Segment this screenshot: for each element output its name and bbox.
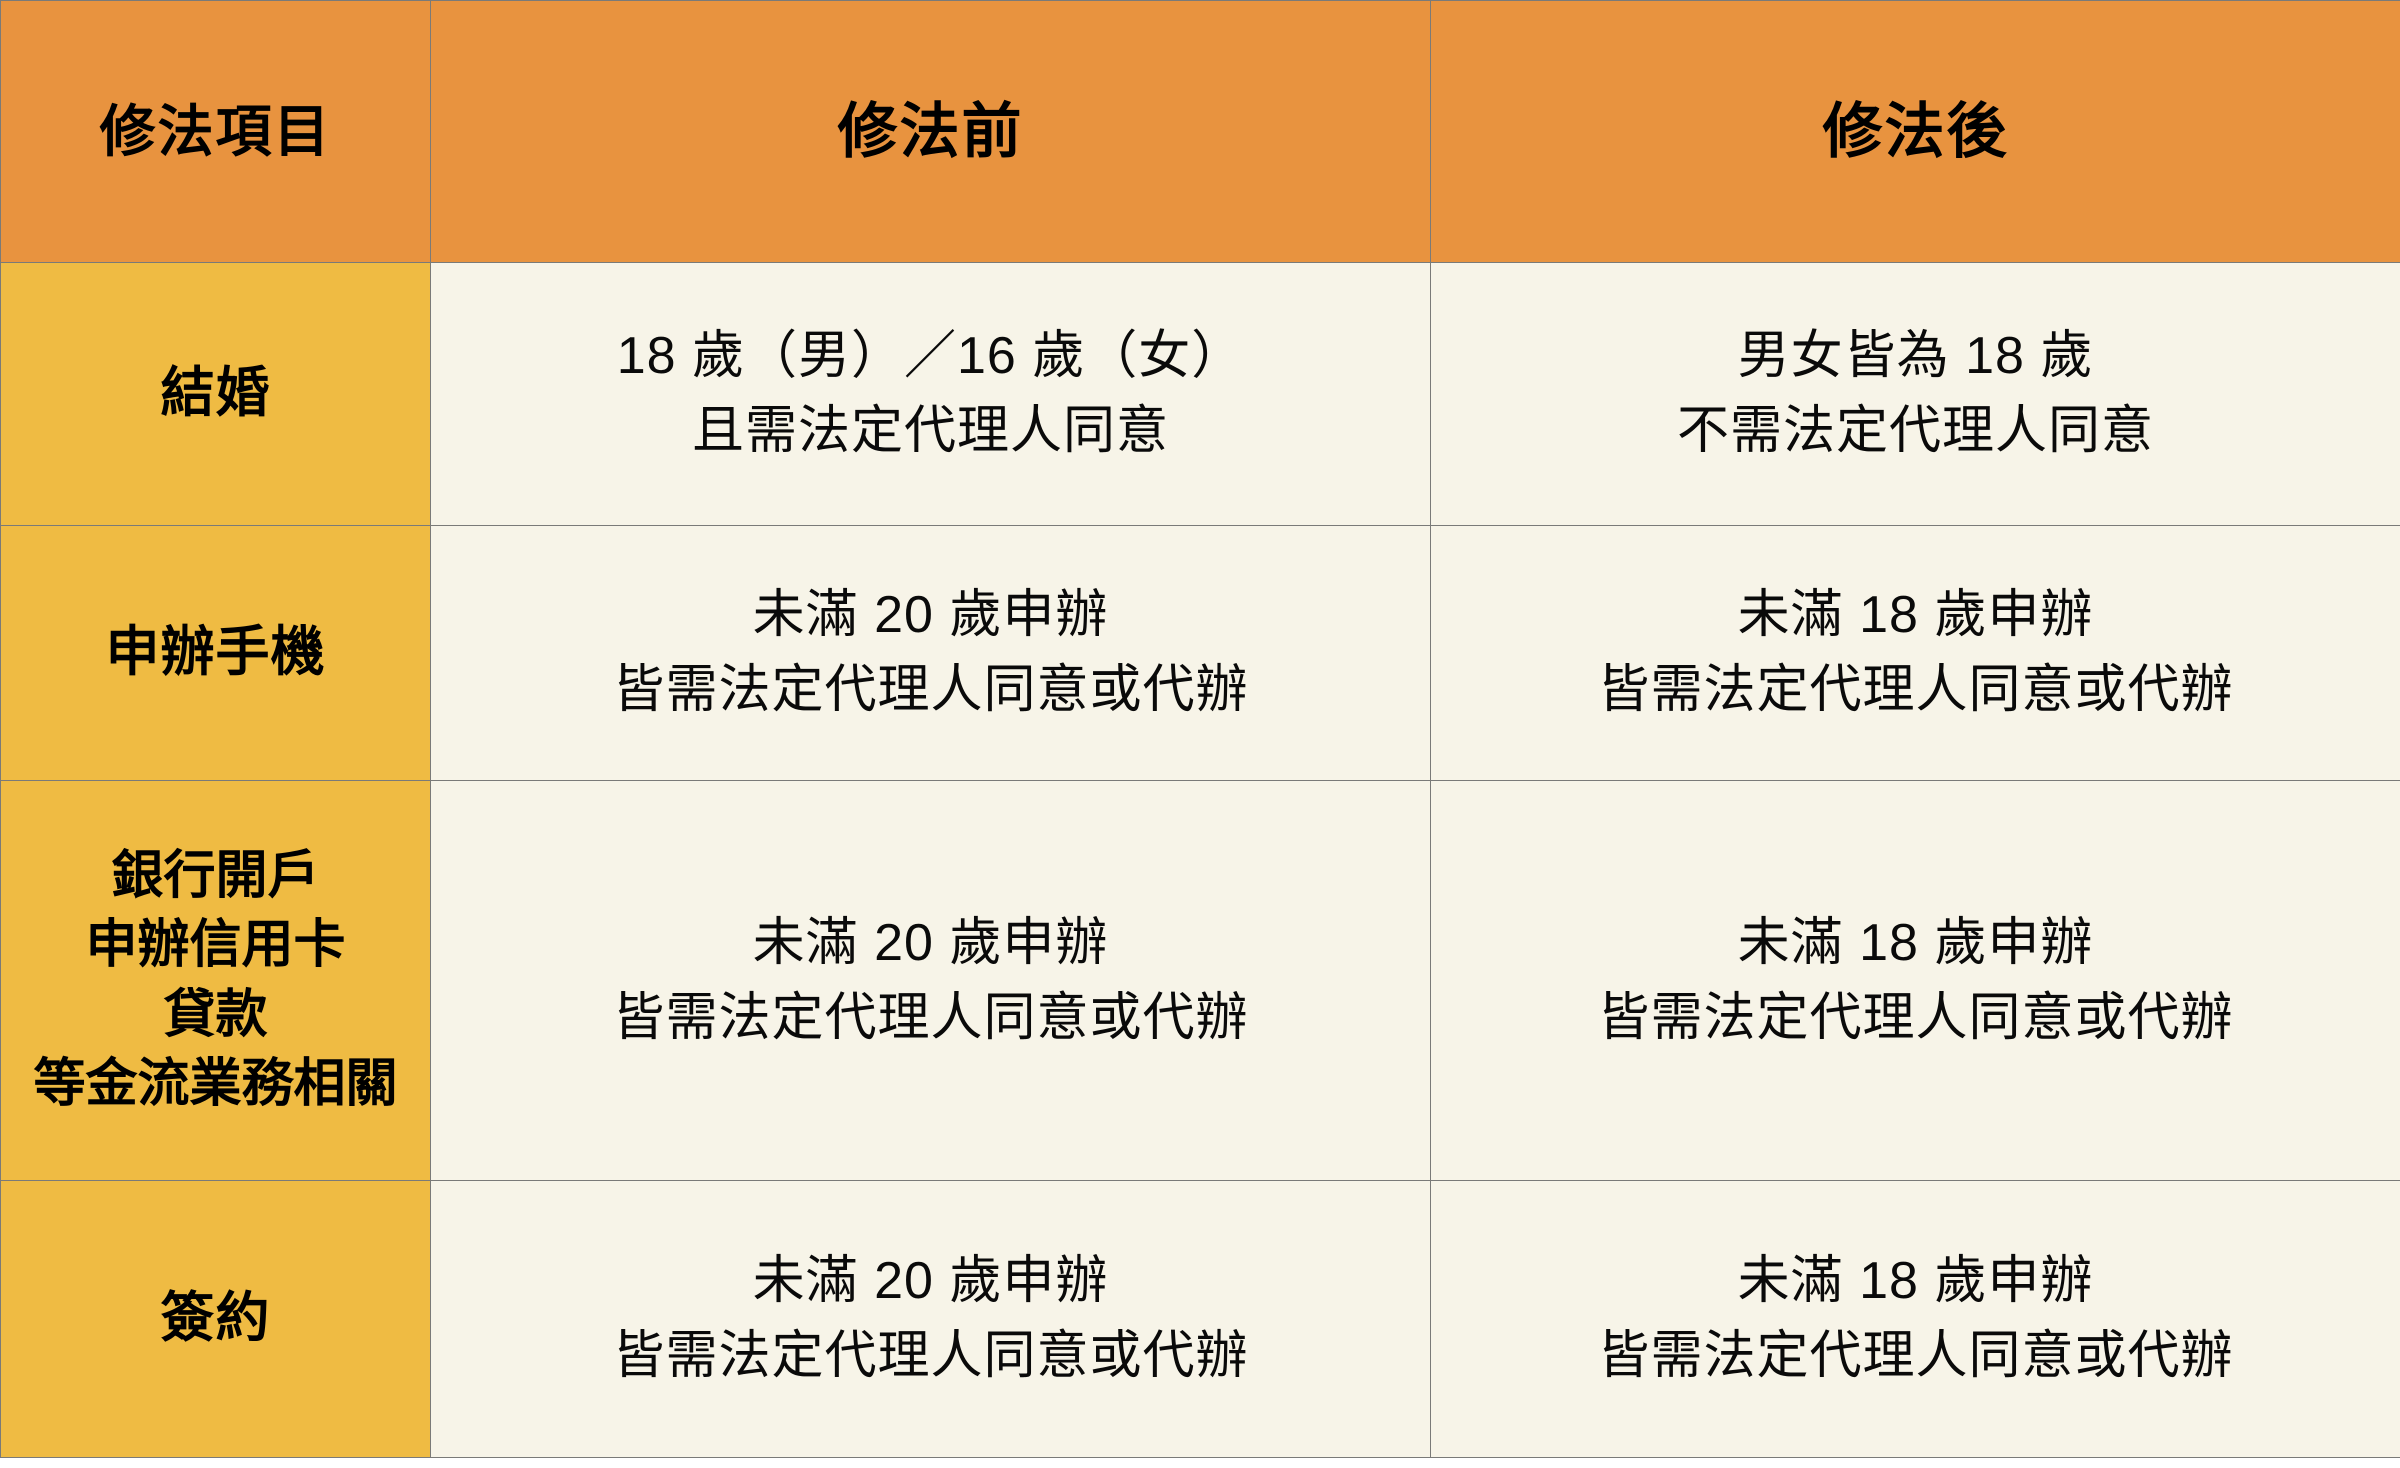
cell-text-line: 未滿 20 歲申辦 <box>431 906 1430 981</box>
cell-financial-services-before: 未滿 20 歲申辦 皆需法定代理人同意或代辦 <box>431 781 1431 1181</box>
row-label-line: 申辦信用卡 <box>1 911 430 980</box>
row-label-line: 等金流業務相關 <box>1 1050 430 1119</box>
cell-text-line: 不需法定代理人同意 <box>1431 394 2400 469</box>
row-label-contract-signing: 簽約 <box>1 1181 431 1458</box>
cell-text-line: 皆需法定代理人同意或代辦 <box>1431 981 2400 1056</box>
cell-marriage-before: 18 歲（男）／16 歲（女） 且需法定代理人同意 <box>431 263 1431 526</box>
table-header-row: 修法項目 修法前 修法後 <box>1 1 2400 263</box>
row-label-line: 簽約 <box>1 1284 430 1353</box>
cell-mobile-phone-before: 未滿 20 歲申辦 皆需法定代理人同意或代辦 <box>431 526 1431 781</box>
table-row: 申辦手機 未滿 20 歲申辦 皆需法定代理人同意或代辦 未滿 18 歲申辦 皆需… <box>1 526 2400 781</box>
table-row: 銀行開戶 申辦信用卡 貸款 等金流業務相關 未滿 20 歲申辦 皆需法定代理人同… <box>1 781 2400 1181</box>
row-label-line: 銀行開戶 <box>1 842 430 911</box>
cell-text-line: 且需法定代理人同意 <box>431 394 1430 469</box>
cell-text-line: 皆需法定代理人同意或代辦 <box>431 653 1430 728</box>
row-label-line: 結婚 <box>1 359 430 428</box>
cell-text-line: 未滿 18 歲申辦 <box>1431 1244 2400 1319</box>
row-label-line: 申辦手機 <box>1 618 430 687</box>
law-amendment-comparison-table: 修法項目 修法前 修法後 結婚 18 歲（男）／16 歲（女） 且需法定代理人同… <box>0 0 2400 1458</box>
table-header: 修法項目 修法前 修法後 <box>1 1 2400 263</box>
column-header-after: 修法後 <box>1431 1 2400 263</box>
cell-text-line: 未滿 20 歲申辦 <box>431 1244 1430 1319</box>
column-header-item: 修法項目 <box>1 1 431 263</box>
comparison-table-container: 修法項目 修法前 修法後 結婚 18 歲（男）／16 歲（女） 且需法定代理人同… <box>0 0 2400 1468</box>
row-label-marriage: 結婚 <box>1 263 431 526</box>
cell-text-line: 未滿 18 歲申辦 <box>1431 578 2400 653</box>
cell-text-line: 皆需法定代理人同意或代辦 <box>431 1319 1430 1394</box>
cell-contract-signing-before: 未滿 20 歲申辦 皆需法定代理人同意或代辦 <box>431 1181 1431 1458</box>
cell-financial-services-after: 未滿 18 歲申辦 皆需法定代理人同意或代辦 <box>1431 781 2400 1181</box>
row-label-financial-services: 銀行開戶 申辦信用卡 貸款 等金流業務相關 <box>1 781 431 1181</box>
table-body: 結婚 18 歲（男）／16 歲（女） 且需法定代理人同意 男女皆為 18 歲 不… <box>1 263 2400 1458</box>
cell-text-line: 未滿 18 歲申辦 <box>1431 906 2400 981</box>
row-label-mobile-phone-application: 申辦手機 <box>1 526 431 781</box>
cell-text-line: 未滿 20 歲申辦 <box>431 578 1430 653</box>
cell-text-line: 男女皆為 18 歲 <box>1431 319 2400 394</box>
cell-marriage-after: 男女皆為 18 歲 不需法定代理人同意 <box>1431 263 2400 526</box>
cell-text-line: 皆需法定代理人同意或代辦 <box>1431 653 2400 728</box>
cell-contract-signing-after: 未滿 18 歲申辦 皆需法定代理人同意或代辦 <box>1431 1181 2400 1458</box>
row-label-line: 貸款 <box>1 981 430 1050</box>
cell-mobile-phone-after: 未滿 18 歲申辦 皆需法定代理人同意或代辦 <box>1431 526 2400 781</box>
cell-text-line: 皆需法定代理人同意或代辦 <box>431 981 1430 1056</box>
column-header-before: 修法前 <box>431 1 1431 263</box>
cell-text-line: 18 歲（男）／16 歲（女） <box>431 319 1430 394</box>
table-row: 結婚 18 歲（男）／16 歲（女） 且需法定代理人同意 男女皆為 18 歲 不… <box>1 263 2400 526</box>
table-row: 簽約 未滿 20 歲申辦 皆需法定代理人同意或代辦 未滿 18 歲申辦 皆需法定… <box>1 1181 2400 1458</box>
cell-text-line: 皆需法定代理人同意或代辦 <box>1431 1319 2400 1394</box>
